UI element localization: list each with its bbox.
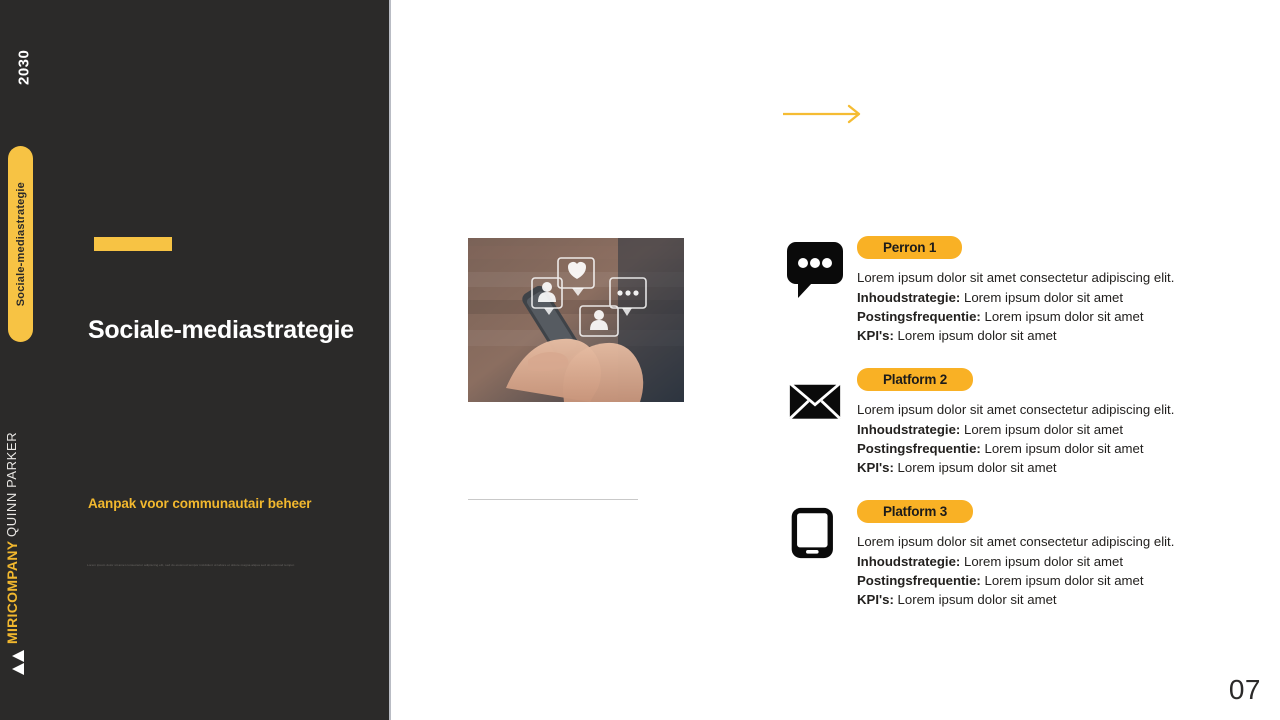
platform-detail-value: Lorem ipsum dolor sit amet: [964, 554, 1123, 569]
platform-detail-label: Inhoudstrategie:: [857, 422, 960, 437]
page-title: Sociale-mediastrategie: [88, 316, 378, 345]
panel-edge-divider: [389, 0, 391, 720]
platform-detail-row: KPI's: Lorem ipsum dolor sit amet: [857, 590, 1206, 609]
platform-detail-row: Postingsfrequentie: Lorem ipsum dolor si…: [857, 571, 1206, 590]
platform-detail-row: Inhoudstrategie: Lorem ipsum dolor sit a…: [857, 288, 1206, 307]
platform-detail-row: Postingsfrequentie: Lorem ipsum dolor si…: [857, 307, 1206, 326]
platform-block-list: Perron 1 Lorem ipsum dolor sit amet cons…: [786, 236, 1206, 632]
platform-detail-value: Lorem ipsum dolor sit amet: [964, 422, 1123, 437]
platform-detail-value: Lorem ipsum dolor sit amet: [964, 290, 1123, 305]
platform-detail-label: KPI's:: [857, 592, 894, 607]
brand-label: MIRICOMPANY: [4, 540, 38, 645]
section-pill-label: Sociale-mediastrategie: [15, 182, 27, 306]
platform-badge[interactable]: Platform 2: [857, 368, 973, 391]
year-label: 2030: [4, 42, 44, 92]
platform-badge[interactable]: Platform 3: [857, 500, 973, 523]
platform-detail-row: Inhoudstrategie: Lorem ipsum dolor sit a…: [857, 420, 1206, 439]
platform-block-body: Platform 2 Lorem ipsum dolor sit amet co…: [857, 368, 1206, 477]
platform-detail-value: Lorem ipsum dolor sit amet: [898, 460, 1057, 475]
arrow-right-icon: [783, 103, 865, 125]
platform-detail-label: Postingsfrequentie:: [857, 573, 981, 588]
slide-canvas: 2030 Sociale-mediastrategie Sociale-medi…: [0, 0, 1280, 720]
platform-detail-row: KPI's: Lorem ipsum dolor sit amet: [857, 458, 1206, 477]
platform-detail-value: Lorem ipsum dolor sit amet: [985, 441, 1144, 456]
section-pill-tab[interactable]: Sociale-mediastrategie: [8, 146, 33, 342]
platform-detail-value: Lorem ipsum dolor sit amet: [898, 592, 1057, 607]
platform-detail-label: KPI's:: [857, 328, 894, 343]
platform-block-body: Platform 3 Lorem ipsum dolor sit amet co…: [857, 500, 1206, 609]
accent-bar: [94, 237, 172, 251]
platform-detail-value: Lorem ipsum dolor sit amet: [898, 328, 1057, 343]
platform-detail-label: Inhoudstrategie:: [857, 554, 960, 569]
platform-detail-row: Postingsfrequentie: Lorem ipsum dolor si…: [857, 439, 1206, 458]
platform-block: Perron 1 Lorem ipsum dolor sit amet cons…: [786, 236, 1206, 346]
platform-detail-value: Lorem ipsum dolor sit amet: [985, 309, 1144, 324]
platform-detail-row: KPI's: Lorem ipsum dolor sit amet: [857, 326, 1206, 345]
platform-block: Platform 3 Lorem ipsum dolor sit amet co…: [786, 500, 1206, 610]
author-label: QUINN PARKER: [4, 424, 38, 544]
tablet-icon: [786, 504, 844, 562]
platform-detail-label: Inhoudstrategie:: [857, 290, 960, 305]
content-divider: [468, 499, 638, 500]
platform-detail-label: Postingsfrequentie:: [857, 309, 981, 324]
social-media-photo: [468, 238, 684, 402]
chat-bubble-icon: [786, 240, 844, 298]
page-number: 07: [1229, 674, 1261, 706]
platform-description: Lorem ipsum dolor sit amet consectetur a…: [857, 532, 1206, 551]
platform-detail-label: Postingsfrequentie:: [857, 441, 981, 456]
platform-description: Lorem ipsum dolor sit amet consectetur a…: [857, 268, 1206, 287]
platform-detail-label: KPI's:: [857, 460, 894, 475]
platform-block: Platform 2 Lorem ipsum dolor sit amet co…: [786, 368, 1206, 478]
left-panel: 2030 Sociale-mediastrategie Sociale-medi…: [0, 0, 389, 720]
platform-detail-value: Lorem ipsum dolor sit amet: [985, 573, 1144, 588]
envelope-icon: [786, 372, 844, 430]
fineprint-text: Lorem ipsum dolor sit amet consectetur a…: [87, 563, 337, 568]
triangle-logo-icon: [8, 650, 32, 676]
platform-description: Lorem ipsum dolor sit amet consectetur a…: [857, 400, 1206, 419]
page-subtitle: Aanpak voor communautair beheer: [88, 496, 378, 511]
platform-badge[interactable]: Perron 1: [857, 236, 962, 259]
platform-detail-row: Inhoudstrategie: Lorem ipsum dolor sit a…: [857, 552, 1206, 571]
platform-block-body: Perron 1 Lorem ipsum dolor sit amet cons…: [857, 236, 1206, 345]
